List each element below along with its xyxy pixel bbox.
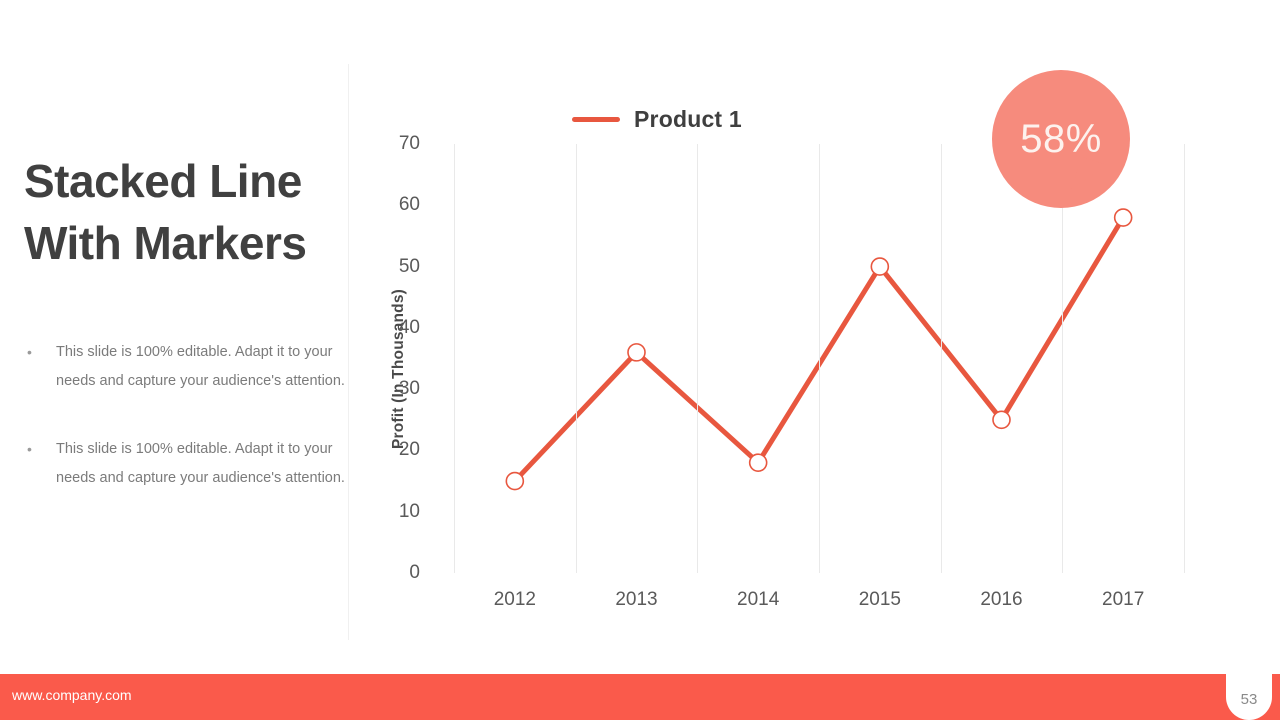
line-chart: Product 1 Profit (In Thousands) 70605040… xyxy=(348,60,1280,650)
list-item: • This slide is 100% editable. Adapt it … xyxy=(24,338,349,395)
bullet-list: • This slide is 100% editable. Adapt it … xyxy=(24,338,349,532)
callout-value: 58% xyxy=(992,70,1130,208)
page-number: 53 xyxy=(1241,691,1258,708)
data-point-marker[interactable] xyxy=(1115,209,1132,226)
data-point-marker[interactable] xyxy=(750,454,767,471)
bullet-dot-icon: • xyxy=(27,435,32,464)
data-point-marker[interactable] xyxy=(993,411,1010,428)
x-axis-tick-label: 2017 xyxy=(1078,589,1168,611)
chart-gridline xyxy=(697,144,698,573)
chart-gridline xyxy=(1062,144,1063,573)
page-title: Stacked Line With Markers xyxy=(24,150,354,274)
bullet-dot-icon: • xyxy=(27,338,32,367)
x-axis-tick-label: 2013 xyxy=(592,589,682,611)
x-axis-tick-label: 2015 xyxy=(835,589,925,611)
chart-gridline xyxy=(576,144,577,573)
footer-bar: www.company.com xyxy=(0,674,1280,720)
data-point-marker[interactable] xyxy=(506,473,523,490)
callout-bubble: 58% xyxy=(992,70,1130,208)
list-item: • This slide is 100% editable. Adapt it … xyxy=(24,435,349,492)
page-number-badge: 53 xyxy=(1226,660,1272,720)
x-axis-tick-label: 2014 xyxy=(713,589,803,611)
data-point-marker[interactable] xyxy=(871,258,888,275)
footer-url[interactable]: www.company.com xyxy=(12,687,132,703)
x-axis-tick-label: 2012 xyxy=(470,589,560,611)
chart-gridline xyxy=(1184,144,1185,573)
chart-gridline xyxy=(454,144,455,573)
list-item-text: This slide is 100% editable. Adapt it to… xyxy=(56,344,345,389)
list-item-text: This slide is 100% editable. Adapt it to… xyxy=(56,441,345,486)
plot-area xyxy=(454,144,1184,573)
chart-gridline xyxy=(819,144,820,573)
x-axis-tick-label: 2016 xyxy=(957,589,1047,611)
data-point-marker[interactable] xyxy=(628,344,645,361)
chart-gridline xyxy=(941,144,942,573)
